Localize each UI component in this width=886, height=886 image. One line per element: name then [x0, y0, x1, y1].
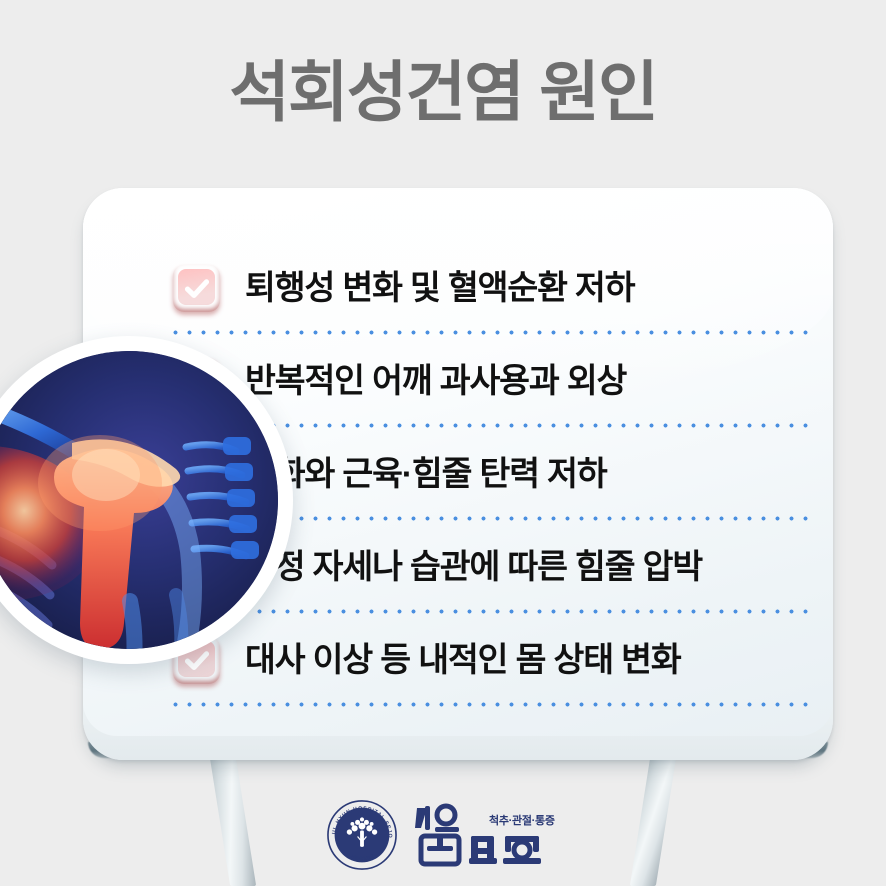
shoulder-joint-illustration — [0, 351, 278, 649]
list-item-label: 노화와 근육·힘줄 탄력 저하 — [245, 458, 607, 492]
row-separator — [173, 702, 813, 707]
infographic-canvas: 석회성건염 원인 퇴행성 변화 및 혈액순환 저하 — [0, 0, 886, 886]
list-item-label: 반복적인 어깨 과사용과 외상 — [245, 365, 626, 399]
list-item-label: 특정 자세나 습관에 따른 힘줄 압박 — [245, 551, 702, 585]
list-item-label: 대사 이상 등 내적인 몸 상태 변화 — [245, 644, 681, 678]
hospital-wordmark: 척추·관절·통증 — [413, 802, 561, 868]
list-item-label: 퇴행성 변화 및 혈액순환 저하 — [245, 272, 634, 306]
check-icon — [173, 265, 220, 312]
hospital-emblem-icon: SEOUL HYUN HOSPITAL SEJONG 서울현병원 — [325, 798, 399, 872]
wordmark-tagline: 척추·관절·통증 — [489, 813, 555, 827]
list-item[interactable]: 퇴행성 변화 및 혈액순환 저하 — [173, 242, 813, 335]
page-title: 석회성건염 원인 — [0, 58, 886, 127]
whiteboard: 퇴행성 변화 및 혈액순환 저하 반복적인 어깨 과사용과 외상 — [83, 188, 833, 760]
list-item[interactable]: 대사 이상 등 내적인 몸 상태 변화 — [173, 614, 813, 707]
hospital-logo: SEOUL HYUN HOSPITAL SEJONG 서울현병원 — [0, 798, 886, 872]
